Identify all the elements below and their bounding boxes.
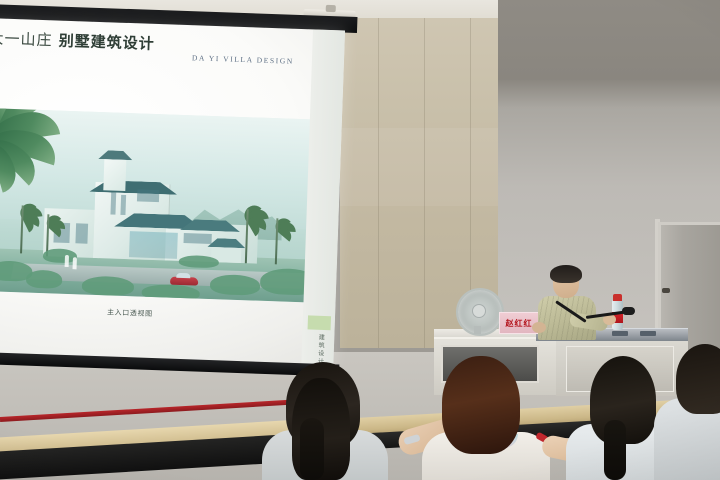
rendering-shrub — [26, 270, 63, 289]
rendering-palm — [231, 209, 263, 264]
speaker-nameplate-text: 赵红红 — [506, 318, 533, 329]
screen-mount-clip — [326, 5, 336, 12]
microphone-head-icon[interactable] — [622, 307, 635, 315]
console-button[interactable] — [612, 331, 628, 336]
student-far-right-hair — [676, 344, 720, 414]
slide-title-lead: 大一山庄 — [0, 29, 53, 49]
console-button[interactable] — [640, 331, 656, 336]
rendering-shrub — [179, 255, 219, 268]
rendering-window — [75, 223, 88, 243]
rendering-glass-canopy — [129, 231, 178, 259]
slide-sidebar: 建筑设计 — [301, 29, 345, 366]
student-right-ponytail — [604, 420, 626, 480]
lecture-hall-scene: 大一山庄 别墅建筑设计 DA YI VILLA DESIGN — [0, 0, 720, 480]
slide-title-main: 别墅建筑设计 — [58, 32, 155, 53]
rendering-person — [65, 255, 69, 267]
fan-hub-icon — [472, 304, 486, 318]
rendering-window — [120, 195, 126, 215]
slide-subtitle-english: DA YI VILLA DESIGN — [192, 53, 294, 66]
speaker-hair — [550, 265, 582, 283]
student-front-left-ponytail — [300, 418, 324, 480]
student-center-hair — [442, 356, 520, 454]
bottle-cap[interactable] — [613, 294, 622, 301]
speaker-hand-left — [532, 322, 546, 333]
wall-panel-seam — [378, 18, 379, 348]
wall-panel-band — [340, 128, 498, 206]
screen-surface: 大一山庄 别墅建筑设计 DA YI VILLA DESIGN — [0, 18, 345, 366]
rendering-palm — [7, 205, 37, 254]
slide-sidebar-accent-block — [308, 315, 331, 330]
villa-rendering-image — [0, 108, 326, 303]
rendering-window — [183, 233, 211, 244]
wall-panel-seam — [424, 18, 425, 348]
rendering-window — [137, 189, 159, 202]
projection-screen: 大一山庄 别墅建筑设计 DA YI VILLA DESIGN — [0, 0, 358, 399]
rendering-person — [73, 257, 77, 269]
rendering-palm — [263, 218, 291, 265]
rendering-window — [110, 192, 116, 214]
rendering-palm-large — [0, 108, 74, 185]
slide: 大一山庄 别墅建筑设计 DA YI VILLA DESIGN — [0, 18, 345, 366]
door-handle-icon[interactable] — [662, 288, 670, 293]
fan-stand — [474, 326, 481, 334]
slide-image-caption: 主入口透视图 — [107, 307, 153, 319]
slide-title: 大一山庄 别墅建筑设计 — [0, 27, 155, 54]
rendering-car — [170, 277, 198, 286]
rendering-tower — [103, 156, 126, 191]
